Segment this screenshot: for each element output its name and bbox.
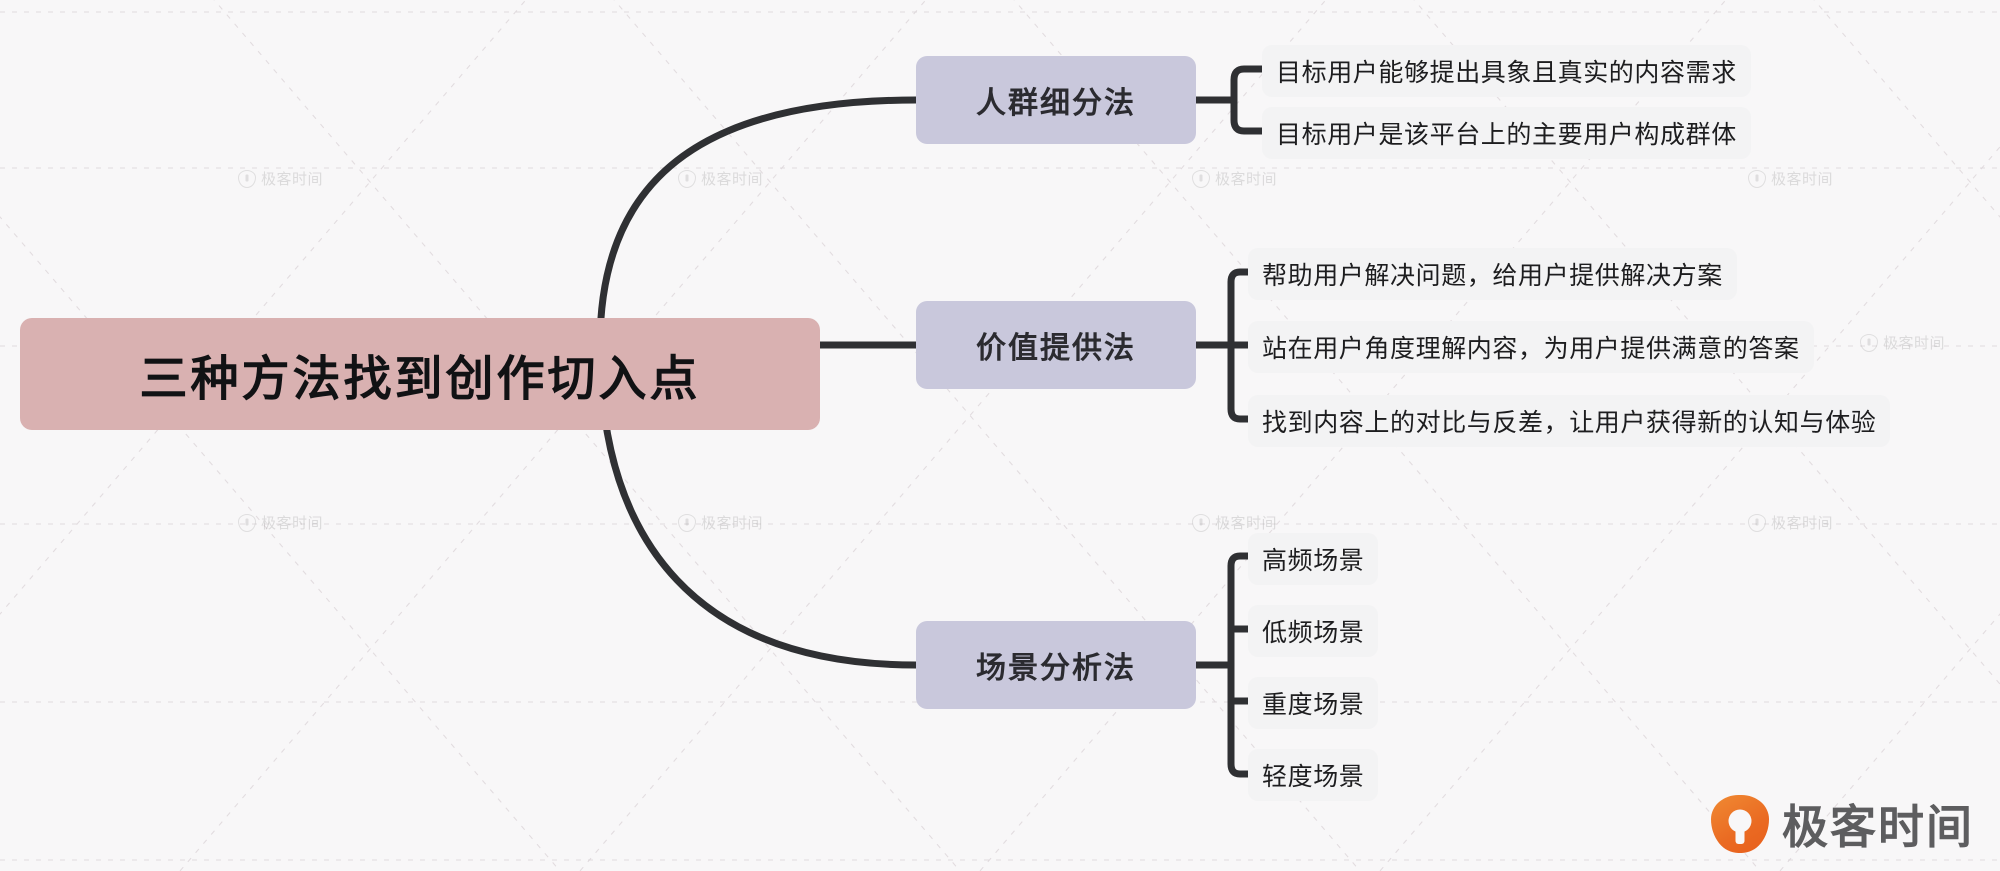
leaf-node[interactable]: 轻度场景 [1248,749,1378,801]
geektime-pin-icon [1860,334,1878,352]
leaf-node-label: 目标用户能够提出具象且真实的内容需求 [1276,53,1737,89]
geektime-pin-icon [1192,514,1210,532]
leaf-node-label: 重度场景 [1262,685,1364,721]
geektime-pin-icon [1748,514,1766,532]
edge-branch-1-bracket [1231,272,1248,419]
edge-branch-0-bracket [1234,69,1262,131]
root-node[interactable]: 三种方法找到创作切入点 [20,318,820,430]
watermark-label: 极客时间 [1215,512,1277,533]
root-node-label: 三种方法找到创作切入点 [139,339,700,409]
leaf-node[interactable]: 找到内容上的对比与反差，让用户获得新的认知与体验 [1248,395,1890,447]
leaf-node-label: 低频场景 [1262,613,1364,649]
watermark-label: 极客时间 [261,168,323,189]
leaf-node[interactable]: 高频场景 [1248,533,1378,585]
geektime-pin-icon [1748,170,1766,188]
geektime-pin-icon [238,514,256,532]
leaf-node[interactable]: 目标用户能够提出具象且真实的内容需求 [1262,45,1751,97]
leaf-node-label: 找到内容上的对比与反差，让用户获得新的认知与体验 [1262,403,1876,439]
branch-node-label: 场景分析法 [976,643,1136,687]
leaf-node-label: 站在用户角度理解内容，为用户提供满意的答案 [1262,329,1800,365]
leaf-node-label: 目标用户是该平台上的主要用户构成群体 [1276,115,1737,151]
watermark: 极客时间 [678,168,763,189]
leaf-node[interactable]: 重度场景 [1248,677,1378,729]
brand-logo: 极客时间 [1711,791,1974,857]
edge-root-to-branch-0 [600,100,916,345]
watermark: 极客时间 [1860,332,1945,353]
branch-node-scenario-analysis[interactable]: 场景分析法 [916,621,1196,709]
geektime-pin-icon [678,514,696,532]
watermark-label: 极客时间 [1883,332,1945,353]
leaf-node[interactable]: 目标用户是该平台上的主要用户构成群体 [1262,107,1751,159]
watermark: 极客时间 [1192,168,1277,189]
geektime-pin-icon [678,170,696,188]
leaf-node-label: 帮助用户解决问题，给用户提供解决方案 [1262,256,1723,292]
watermark: 极客时间 [238,168,323,189]
branch-node-label: 人群细分法 [976,78,1136,122]
leaf-node[interactable]: 低频场景 [1248,605,1378,657]
watermark-label: 极客时间 [701,512,763,533]
watermark: 极客时间 [1748,512,1833,533]
watermark: 极客时间 [1192,512,1277,533]
watermark-label: 极客时间 [261,512,323,533]
geektime-pin-icon [1192,170,1210,188]
branch-node-people-segmentation[interactable]: 人群细分法 [916,56,1196,144]
brand-name: 极客时间 [1782,791,1974,857]
watermark: 极客时间 [678,512,763,533]
watermark: 极客时间 [238,512,323,533]
mindmap-canvas: 极客时间 极客时间 极客时间 极客时间 极客时间 极客时间 极客时间 极客时 [0,0,2000,871]
leaf-node[interactable]: 站在用户角度理解内容，为用户提供满意的答案 [1248,321,1814,373]
leaf-node-label: 轻度场景 [1262,757,1364,793]
geektime-pin-icon [238,170,256,188]
edge-branch-2-bracket [1231,556,1248,774]
geektime-pin-logo-icon [1711,795,1769,853]
leaf-node[interactable]: 帮助用户解决问题，给用户提供解决方案 [1248,248,1737,300]
branch-node-label: 价值提供法 [976,323,1136,367]
watermark: 极客时间 [1748,168,1833,189]
branch-node-value-provision[interactable]: 价值提供法 [916,301,1196,389]
watermark-label: 极客时间 [1771,168,1833,189]
watermark-label: 极客时间 [701,168,763,189]
watermark-label: 极客时间 [1215,168,1277,189]
leaf-node-label: 高频场景 [1262,541,1364,577]
watermark-label: 极客时间 [1771,512,1833,533]
